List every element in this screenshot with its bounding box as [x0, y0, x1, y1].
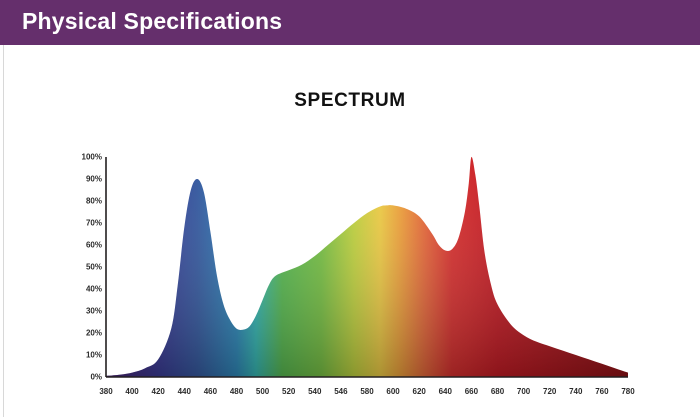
x-axis-tick-780: 780 [611, 387, 645, 396]
spectrum-area-shading [106, 157, 628, 377]
y-axis-tick-50: 50% [72, 263, 102, 272]
y-axis-tick-100: 100% [72, 153, 102, 162]
y-axis-tick-60: 60% [72, 241, 102, 250]
y-axis-tick-70: 70% [72, 219, 102, 228]
y-axis-tick-40: 40% [72, 285, 102, 294]
chart-plot-area: 0%10%20%30%40%50%60%70%80%90%100% 380400… [70, 155, 630, 405]
y-axis-tick-90: 90% [72, 175, 102, 184]
y-axis-tick-20: 20% [72, 329, 102, 338]
y-axis-tick-0: 0% [72, 373, 102, 382]
spectrum-chart-panel: SPECTRUM 0%10%20%30%40%50%60 [0, 45, 700, 417]
page-title: Physical Specifications [22, 8, 282, 35]
y-axis-tick-80: 80% [72, 197, 102, 206]
slide-page: Physical Specifications SPECTRUM [0, 0, 700, 417]
y-axis-tick-10: 10% [72, 351, 102, 360]
y-axis-tick-30: 30% [72, 307, 102, 316]
spectrum-curve-svg [70, 155, 630, 405]
header-banner: Physical Specifications [0, 0, 700, 45]
chart-title: SPECTRUM [0, 90, 700, 112]
